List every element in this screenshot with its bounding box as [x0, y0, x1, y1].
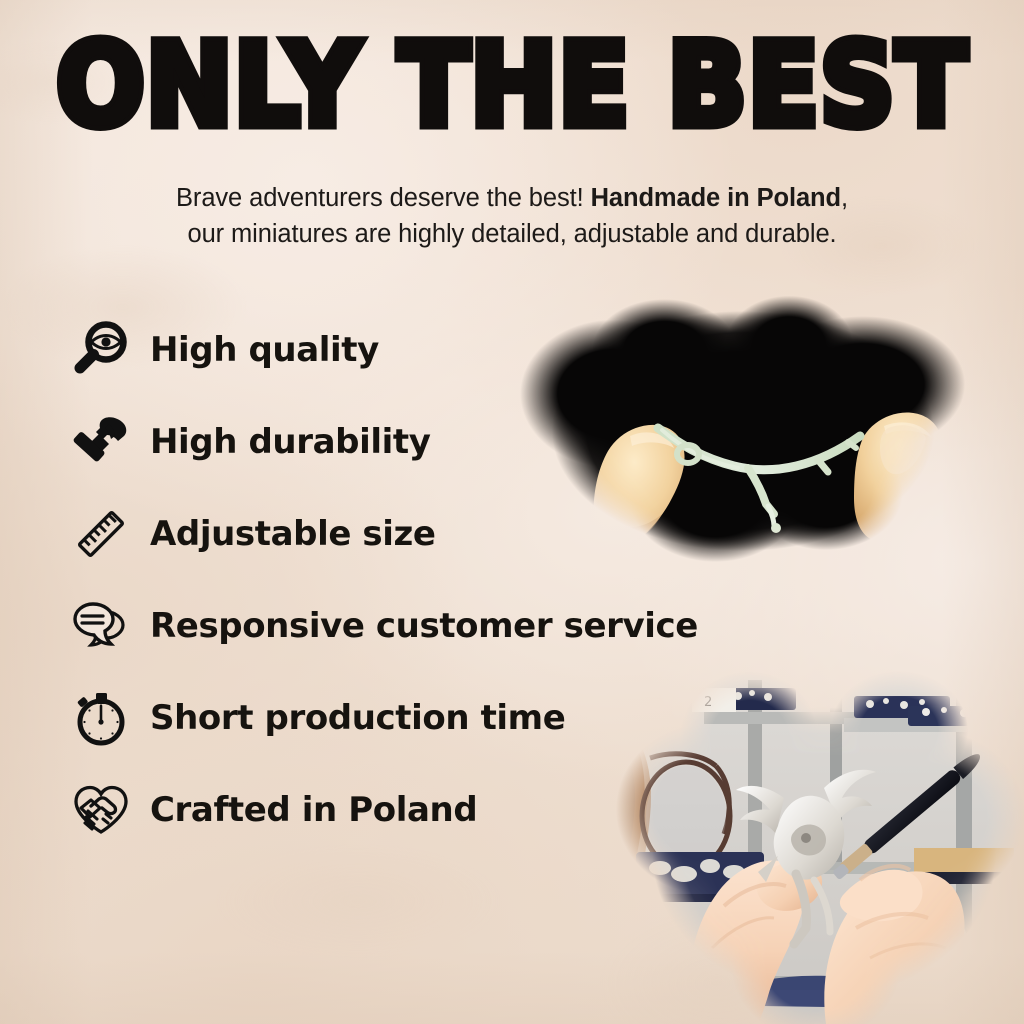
subtitle-lead: Brave adventurers deserve the best! [176, 184, 591, 212]
subtitle: Brave adventurers deserve the best! Hand… [78, 180, 946, 252]
headline-text: ONLY THE BEST [56, 27, 967, 144]
ruler-icon [62, 495, 140, 573]
stopwatch-icon [62, 679, 140, 757]
feature-label: High durability [150, 422, 430, 462]
feature-label: Crafted in Poland [150, 790, 477, 830]
feature-label: High quality [150, 330, 379, 370]
feature-item-crafted-in-poland: Crafted in Poland [62, 764, 752, 856]
subtitle-line-2: our miniatures are highly detailed, adju… [187, 220, 836, 248]
magnifier-eye-icon [62, 311, 140, 389]
subtitle-emphasis: Handmade in Poland [591, 184, 841, 212]
feature-list: High quality High durability [62, 304, 752, 856]
subtitle-tail: , [841, 184, 848, 212]
feature-item-high-durability: High durability [62, 396, 752, 488]
feature-label: Responsive customer service [150, 606, 698, 646]
feature-label: Adjustable size [150, 514, 436, 554]
handshake-heart-icon [62, 771, 140, 849]
feature-item-adjustable-size: Adjustable size [62, 488, 752, 580]
feature-item-short-production-time: Short production time [62, 672, 752, 764]
headline: ONLY THE BEST [0, 32, 1024, 138]
hammer-icon [62, 403, 140, 481]
feature-item-high-quality: High quality [62, 304, 752, 396]
feature-label: Short production time [150, 698, 565, 738]
poster-canvas: 2 [0, 0, 1024, 1024]
feature-item-responsive-customer-service: Responsive customer service [62, 580, 752, 672]
speech-bubbles-icon [62, 587, 140, 665]
